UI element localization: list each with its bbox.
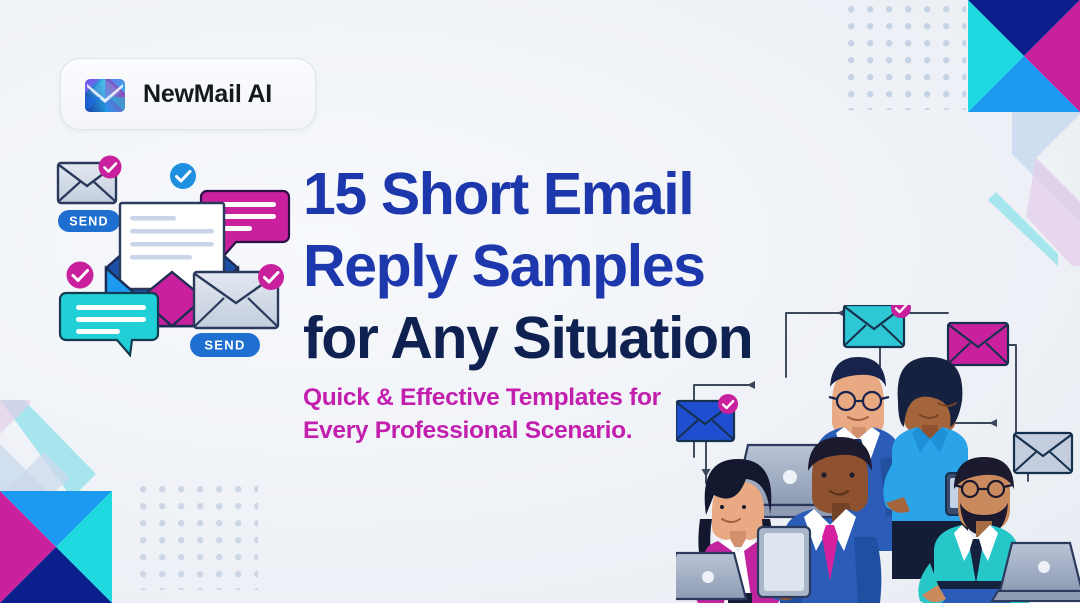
chevron-band-left [0,400,180,540]
envelope-grey-right [1014,433,1072,473]
business-team-illustration [676,305,1080,603]
send-badge-1-label: SEND [69,215,109,229]
geometric-square-top-right [968,0,1080,112]
check-badge-magenta-right [258,264,284,290]
dot-grid-top-right [848,6,966,110]
geometric-square-bottom-left [0,491,112,603]
check-badge-blue [170,163,196,189]
send-badge-2[interactable]: SEND [190,333,260,357]
dot-grid-bottom-left [140,486,258,590]
envelope-teal-top [844,305,911,347]
headline-line-1: 15 Short Email [303,158,843,230]
brand-name-label: NewMail AI [143,82,272,107]
chevron-band-right [940,96,1080,266]
headline-line-2: Reply Samples [303,230,843,302]
brand-logo-pill[interactable]: NewMail AI [60,58,316,130]
email-reply-illustration: SEND [44,150,300,362]
check-badge-magenta-left [67,262,94,289]
poster-canvas: NewMail AI 15 Short Email Reply Samples … [0,0,1080,603]
envelope-logo-icon [83,73,127,115]
send-badge-1[interactable]: SEND [58,210,120,232]
check-badge-magenta [99,156,122,179]
envelope-blue-left [676,394,738,441]
envelope-magenta-top [948,323,1008,365]
chat-bubble-cyan [60,293,158,355]
tablet-device [758,527,810,597]
send-badge-2-label: SEND [204,338,245,353]
laptop-front-left [676,553,746,599]
